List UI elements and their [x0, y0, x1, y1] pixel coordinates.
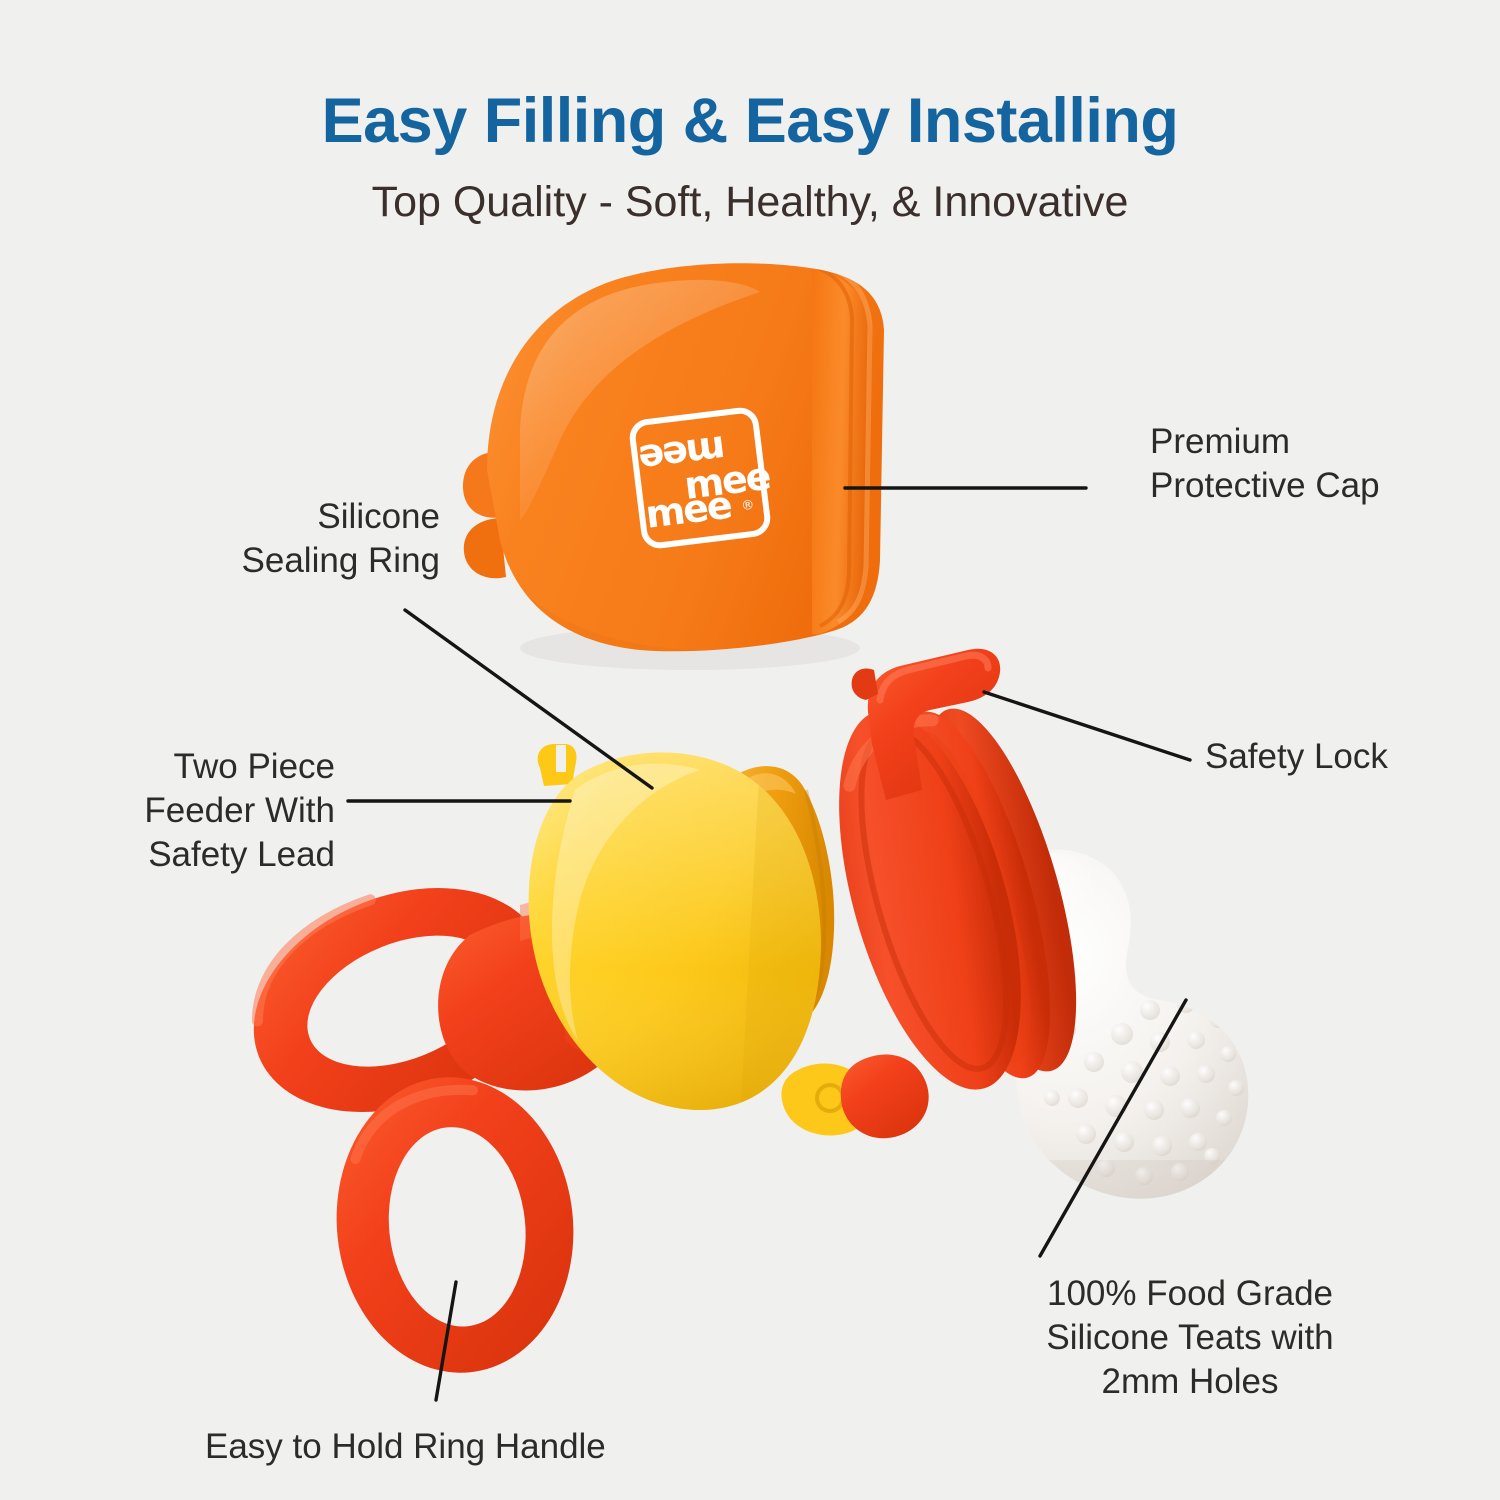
callout-two-piece-feeder: Two Piece Feeder With Safety Lead	[55, 745, 335, 877]
leader-ring-handle	[436, 1282, 456, 1400]
callout-silicone-teats: 100% Food Grade Silicone Teats with 2mm …	[1000, 1272, 1380, 1404]
callout-silicone-sealing-ring: Silicone Sealing Ring	[150, 495, 440, 583]
leader-safety-lock	[984, 692, 1190, 760]
callout-ring-handle: Easy to Hold Ring Handle	[205, 1425, 765, 1469]
leader-silicone-sealing-ring	[405, 610, 652, 788]
leader-silicone-teats	[1040, 1000, 1186, 1256]
callout-premium-protective-cap: Premium Protective Cap	[1150, 420, 1450, 508]
infographic-canvas: Easy Filling & Easy Installing Top Quali…	[0, 0, 1500, 1500]
callout-safety-lock: Safety Lock	[1205, 735, 1485, 779]
